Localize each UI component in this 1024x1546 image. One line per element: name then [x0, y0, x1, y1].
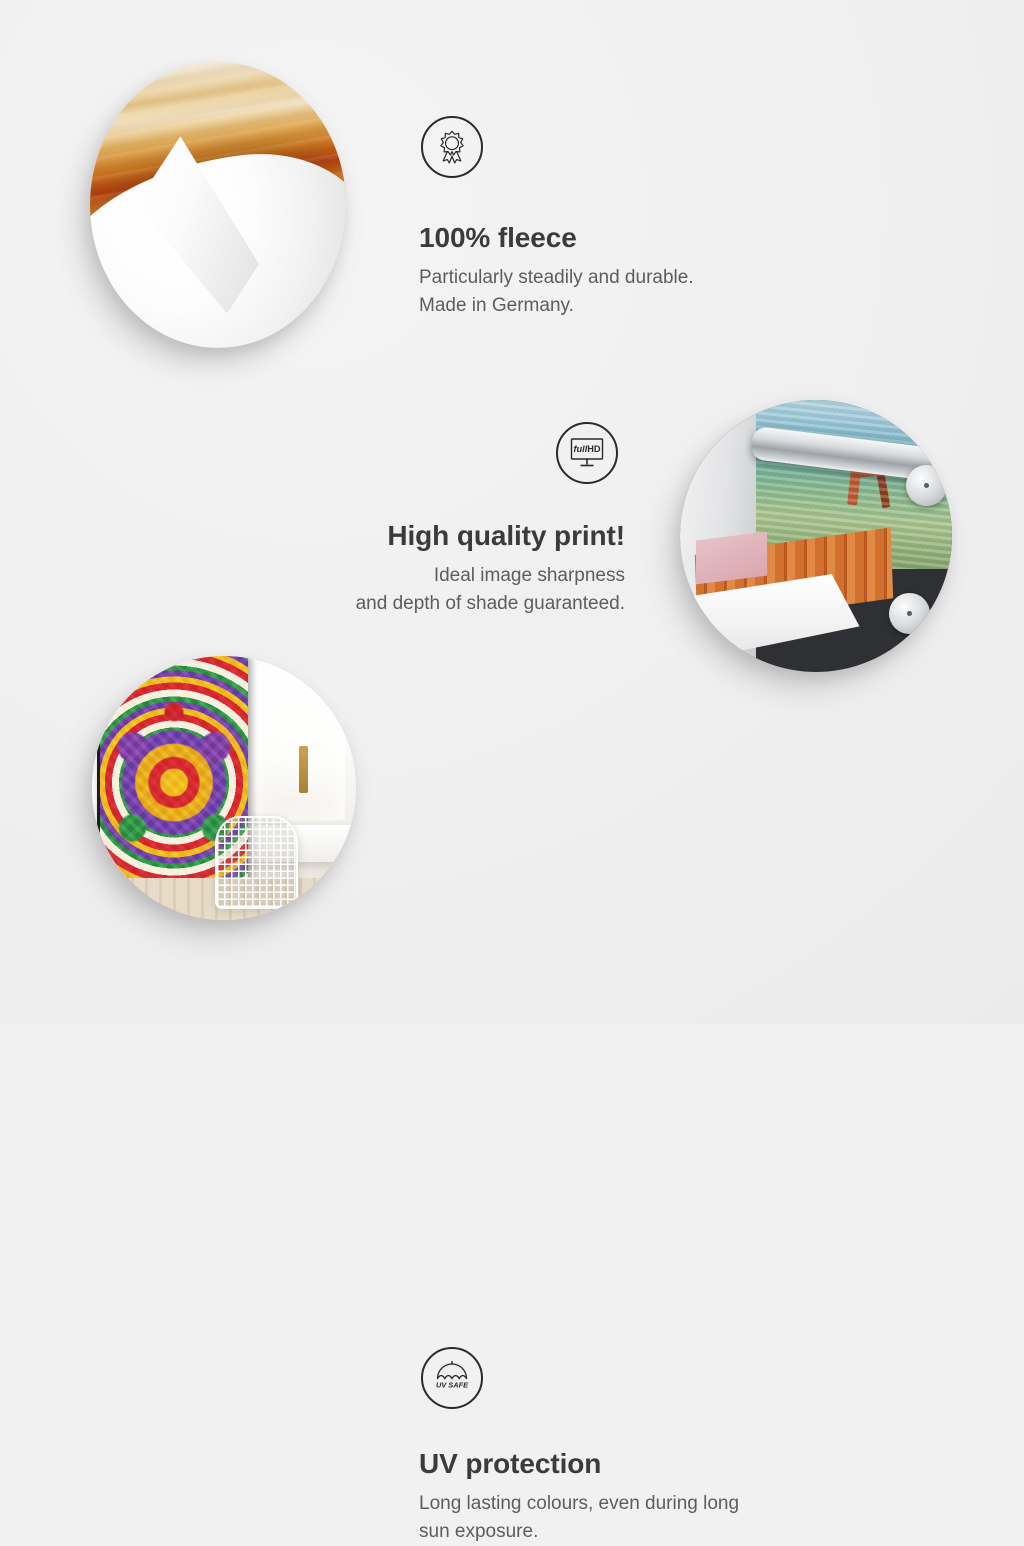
page-title: High quality print! [225, 520, 625, 552]
page-title: 100% fleece [419, 222, 694, 254]
feature-text-print: High quality print! Ideal image sharpnes… [225, 520, 625, 618]
page-title: UV protection [419, 1448, 739, 1480]
feature-desc-line-1: Particularly steadily and durable. [419, 264, 694, 292]
peeling-fleece-wallpaper-photo [90, 62, 346, 348]
uv-safe-umbrella-icon: UV SAFE [421, 1347, 483, 1409]
roller-knob-top [906, 465, 947, 506]
printed-pink-panel [696, 532, 767, 584]
feature-block-fleece: 100% fleece Particularly steadily and du… [0, 0, 1024, 360]
fullhd-monitor-icon: fullHD [556, 422, 618, 484]
wire-chair [215, 816, 298, 910]
feature-text-uv: UV protection Long lasting colours, even… [419, 1448, 739, 1546]
bright-window [256, 667, 346, 820]
feature-desc-line-1: Ideal image sharpness [225, 562, 625, 590]
feature-desc-line-1: Long lasting colours, even during long [419, 1490, 739, 1518]
mandala-wallpaper-room-photo [92, 656, 356, 920]
printing-machine-photo [680, 400, 952, 672]
svg-text:UV SAFE: UV SAFE [436, 1381, 469, 1390]
feature-block-print: fullHD High quality print! Ideal image s… [0, 380, 1024, 670]
feature-desc-line-2: Made in Germany. [419, 292, 694, 320]
award-rosette-icon [421, 116, 483, 178]
svg-text:fullHD: fullHD [573, 444, 600, 454]
feature-text-fleece: 100% fleece Particularly steadily and du… [419, 222, 694, 320]
feature-desc-line-2: sun exposure. [419, 1518, 739, 1546]
feature-block-uv: UV SAFE UV protection Long lasting colou… [0, 650, 1024, 980]
candle-holder [299, 746, 308, 794]
promo-canvas: 100% fleece Particularly steadily and du… [0, 0, 1024, 1024]
feature-desc-line-2: and depth of shade guaranteed. [225, 590, 625, 618]
roller-knob-bottom [889, 593, 930, 634]
